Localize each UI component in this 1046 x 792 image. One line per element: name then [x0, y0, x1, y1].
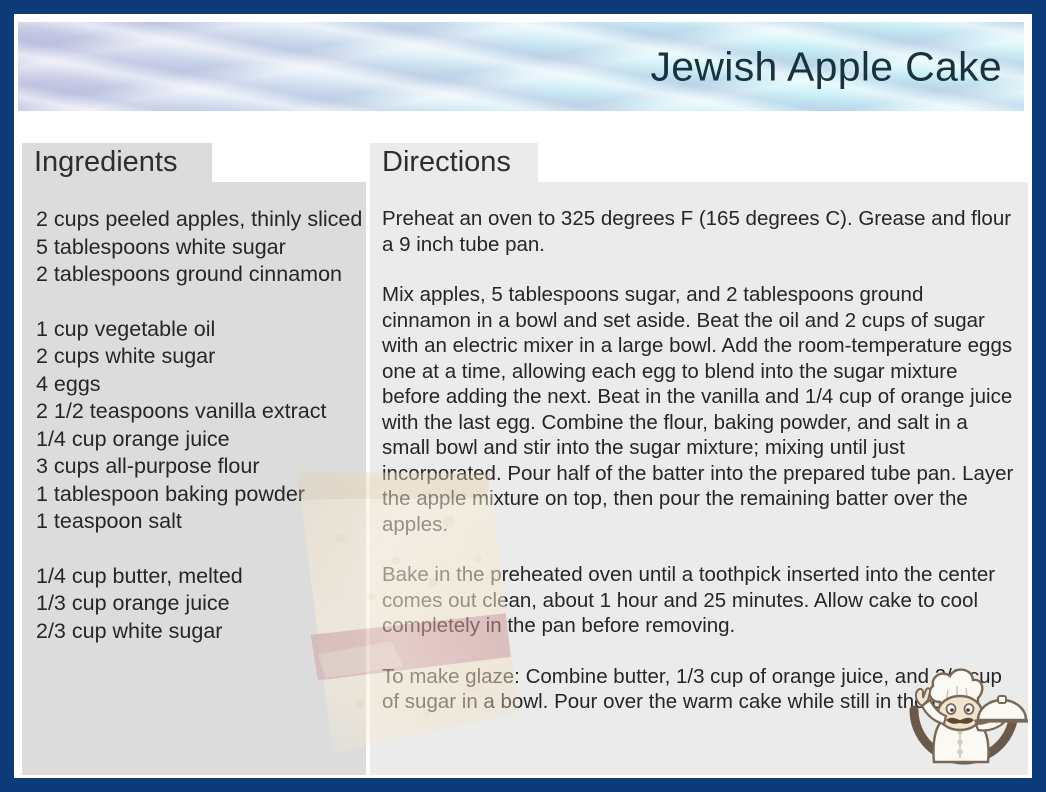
direction-paragraph: To make glaze: Combine butter, 1/3 cup o…: [382, 664, 1016, 715]
ingredient-item: 1/4 cup butter, melted: [36, 563, 360, 591]
ingredient-item: 1/3 cup orange juice: [36, 590, 360, 618]
slide-canvas: Jewish Apple Cake Ingredients Directions…: [0, 0, 1046, 792]
ingredient-item: 1 cup vegetable oil: [36, 316, 360, 344]
ingredient-item: 2 cups peeled apples, thinly sliced: [36, 206, 360, 234]
directions-text: Preheat an oven to 325 degrees F (165 de…: [382, 206, 1016, 740]
ingredient-item: 3 cups all-purpose flour: [36, 453, 360, 481]
ingredient-group: 1 cup vegetable oil2 cups white sugar4 e…: [36, 316, 360, 536]
ingredients-list: 2 cups peeled apples, thinly sliced5 tab…: [36, 206, 360, 672]
recipe-title: Jewish Apple Cake: [650, 43, 1002, 90]
direction-paragraph: Mix apples, 5 tablespoons sugar, and 2 t…: [382, 282, 1016, 537]
ingredient-item: 1/4 cup orange juice: [36, 426, 360, 454]
ingredients-panel: 2 cups peeled apples, thinly sliced5 tab…: [22, 182, 366, 775]
directions-heading: Directions: [370, 143, 538, 182]
ingredients-heading-label: Ingredients: [34, 146, 178, 179]
ingredient-group: 1/4 cup butter, melted1/3 cup orange jui…: [36, 563, 360, 646]
directions-heading-label: Directions: [382, 146, 511, 179]
direction-paragraph: Preheat an oven to 325 degrees F (165 de…: [382, 206, 1016, 257]
directions-panel: Preheat an oven to 325 degrees F (165 de…: [370, 182, 1028, 775]
ingredient-item: 2 1/2 teaspoons vanilla extract: [36, 398, 360, 426]
ingredient-group: 2 cups peeled apples, thinly sliced5 tab…: [36, 206, 360, 289]
ingredient-item: 1 tablespoon baking powder: [36, 481, 360, 509]
ingredient-item: 5 tablespoons white sugar: [36, 234, 360, 262]
ingredient-item: 2/3 cup white sugar: [36, 618, 360, 646]
ingredient-item: 1 teaspoon salt: [36, 508, 360, 536]
direction-paragraph: Bake in the preheated oven until a tooth…: [382, 562, 1016, 639]
ingredient-item: 2 cups white sugar: [36, 343, 360, 371]
ingredient-item: 2 tablespoons ground cinnamon: [36, 261, 360, 289]
ingredients-heading: Ingredients: [22, 143, 212, 182]
recipe-page: Jewish Apple Cake Ingredients Directions…: [14, 14, 1032, 778]
header-banner: Jewish Apple Cake: [18, 22, 1024, 111]
ingredient-item: 4 eggs: [36, 371, 360, 399]
